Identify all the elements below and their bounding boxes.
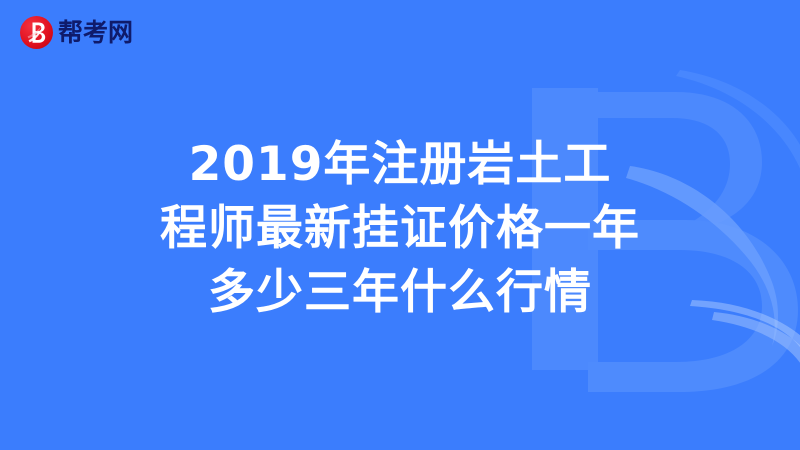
- headline-line-1: 2019年注册岩土工: [0, 133, 800, 197]
- site-logo[interactable]: 帮考网: [20, 16, 133, 49]
- bangkao-b-logo-icon: [20, 16, 53, 49]
- promo-banner: 帮考网 2019年注册岩土工 程师最新挂证价格一年 多少三年什么行情: [0, 0, 800, 450]
- banner-headline: 2019年注册岩土工 程师最新挂证价格一年 多少三年什么行情: [0, 133, 800, 325]
- headline-line-2: 程师最新挂证价格一年: [0, 197, 800, 261]
- headline-line-3: 多少三年什么行情: [0, 261, 800, 325]
- site-logo-text: 帮考网: [58, 20, 133, 45]
